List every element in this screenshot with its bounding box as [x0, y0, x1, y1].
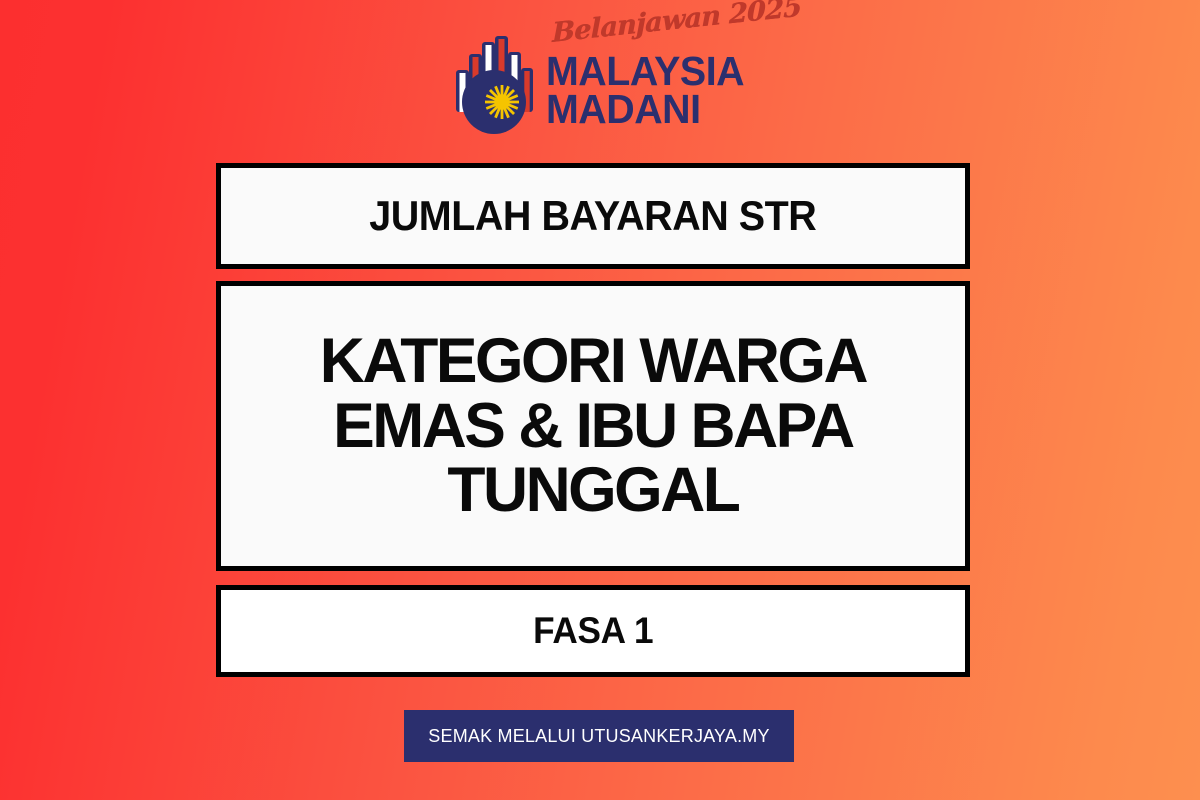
- panel-jumlah-bayaran: JUMLAH BAYARAN STR: [216, 163, 970, 269]
- footer-banner-text: SEMAK MELALUI UTUSANKERJAYA.MY: [428, 726, 769, 747]
- panel-kategori: KATEGORI WARGA EMAS & IBU BAPA TUNGGAL: [216, 281, 970, 571]
- logo-wordmark-line2: MADANI: [546, 92, 701, 127]
- panel-title-text: JUMLAH BAYARAN STR: [369, 195, 816, 237]
- malaysia-madani-logo: Belanjawan 2025 MALAYSIA MADANI: [0, 16, 1200, 138]
- panel-main-text: KATEGORI WARGA EMAS & IBU BAPA TUNGGAL: [302, 329, 884, 524]
- logo-tagline: Belanjawan 2025: [552, 0, 801, 49]
- logo-wordmark-group: Belanjawan 2025 MALAYSIA MADANI: [546, 18, 750, 136]
- logo-inner: Belanjawan 2025 MALAYSIA MADANI: [450, 16, 750, 136]
- footer-banner[interactable]: SEMAK MELALUI UTUSANKERJAYA.MY: [404, 710, 794, 762]
- panel-fasa: FASA 1: [216, 585, 970, 677]
- malaysia-madani-emblem-icon: [450, 32, 538, 136]
- logo-wordmark-line1: MALAYSIA: [546, 54, 744, 89]
- panel-phase-text: FASA 1: [533, 610, 653, 652]
- main-heading-line3: TUNGGAL: [320, 458, 866, 523]
- main-heading-line2: EMAS & IBU BAPA: [320, 394, 866, 459]
- main-heading-line1: KATEGORI WARGA: [320, 329, 866, 394]
- poster-canvas: Belanjawan 2025 MALAYSIA MADANI JUMLAH B…: [0, 0, 1200, 800]
